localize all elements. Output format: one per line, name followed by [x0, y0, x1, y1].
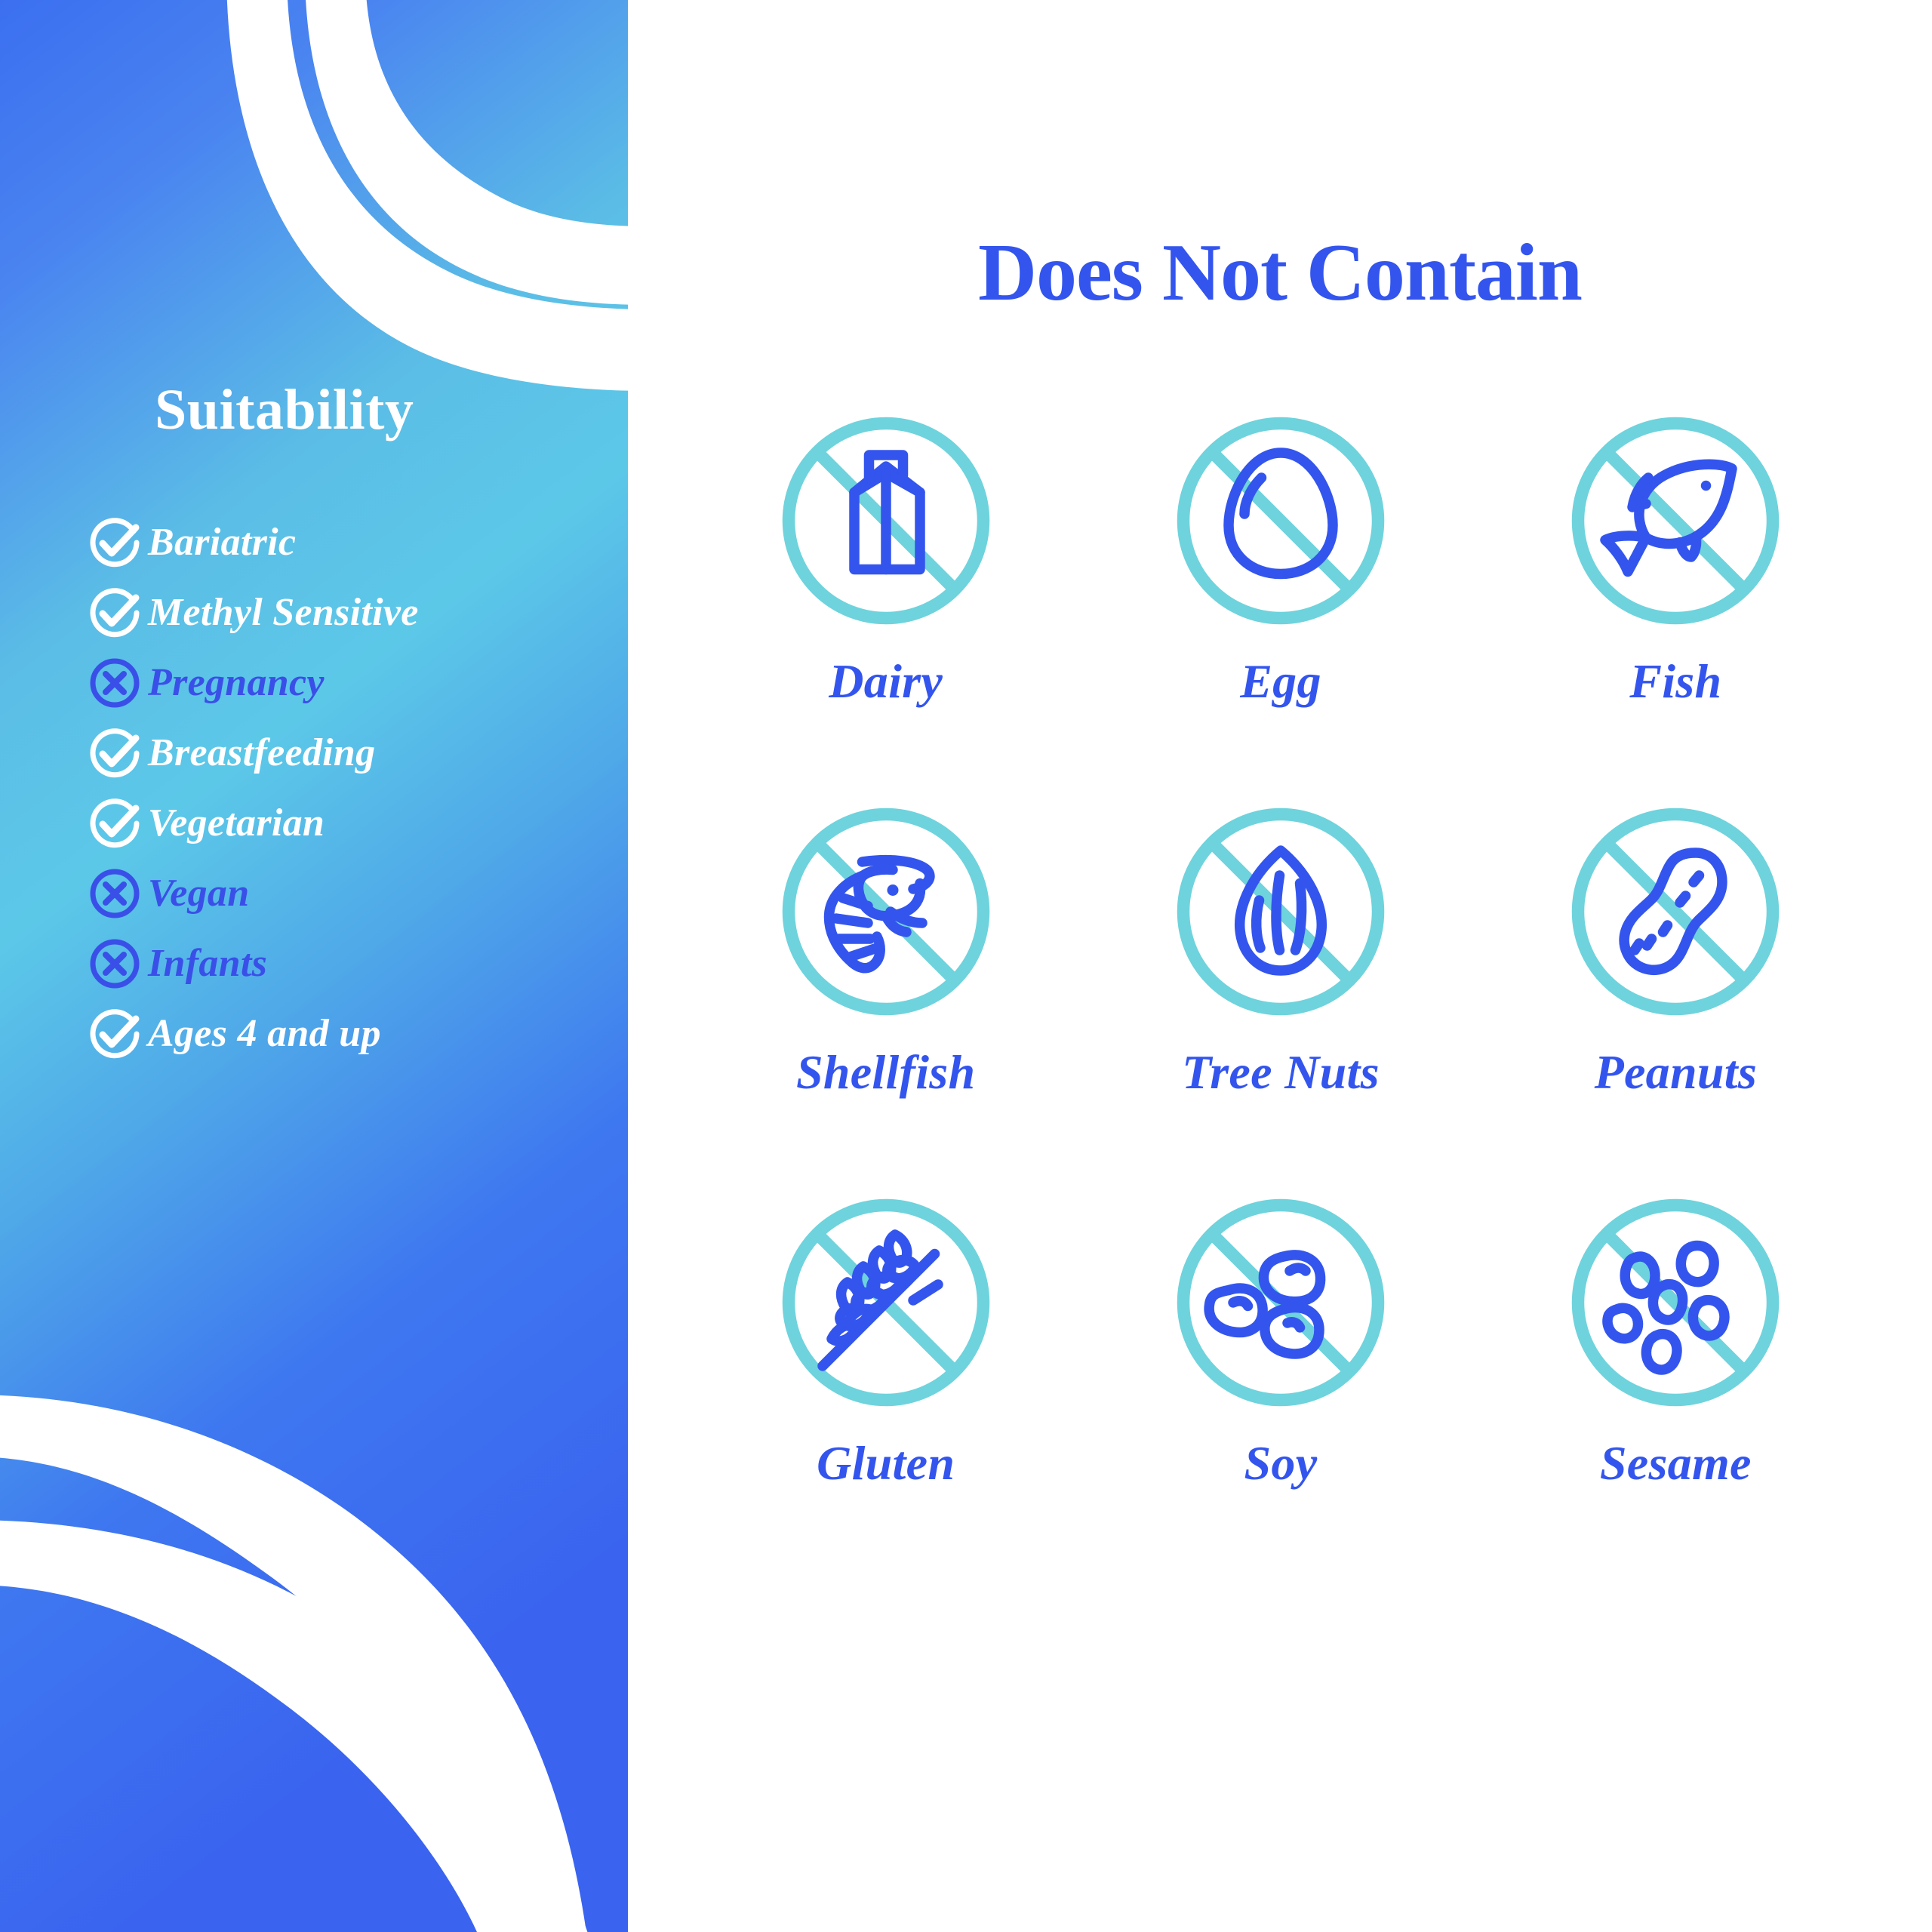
- allergen-label: Tree Nuts: [1182, 1044, 1380, 1100]
- suitability-item-label: Methyl Sensitive: [148, 590, 419, 635]
- allergen-grid: Dairy Egg: [688, 408, 1873, 1491]
- suitability-item-label: Ages 4 and up: [148, 1011, 381, 1056]
- no-shellfish-icon: [773, 798, 999, 1025]
- allergen-label: Dairy: [829, 654, 943, 709]
- allergen-label: Sesame: [1600, 1435, 1752, 1491]
- suitability-item-pregnancy: Pregnancy: [82, 648, 625, 718]
- suitability-item-breastfeeding: Breastfeeding: [82, 718, 625, 788]
- suitability-heading: Suitability: [155, 381, 414, 438]
- suitability-item-label: Breastfeeding: [148, 731, 375, 775]
- suitability-item-vegan: Vegan: [82, 858, 625, 928]
- allergen-cell-peanuts: Peanuts: [1478, 798, 1873, 1100]
- check-circle-icon: [82, 795, 148, 851]
- allergen-label: Shellfish: [796, 1044, 975, 1100]
- page-title: Does Not Contain: [628, 226, 1932, 320]
- suitability-item-label: Bariatric: [148, 520, 296, 565]
- allergen-cell-dairy: Dairy: [688, 408, 1083, 709]
- allergen-label: Fish: [1629, 654, 1721, 709]
- check-circle-icon: [82, 515, 148, 571]
- no-egg-icon: [1168, 408, 1394, 634]
- no-tree-nuts-icon: [1168, 798, 1394, 1025]
- suitability-item-infants: Infants: [82, 928, 625, 998]
- allergen-cell-sesame: Sesame: [1478, 1189, 1873, 1491]
- suitability-section: Suitability Bariatric Methyl Sensitive: [0, 0, 628, 1932]
- no-sesame-icon: [1562, 1189, 1789, 1416]
- suitability-item-label: Vegetarian: [148, 801, 325, 845]
- allergen-cell-gluten: Gluten: [688, 1189, 1083, 1491]
- no-fish-icon: [1562, 408, 1789, 634]
- suitability-item-methyl-sensitive: Methyl Sensitive: [82, 577, 625, 648]
- allergen-label: Egg: [1240, 654, 1321, 709]
- suitability-item-label: Vegan: [148, 871, 249, 915]
- x-circle-icon: [82, 936, 148, 992]
- allergen-cell-tree-nuts: Tree Nuts: [1083, 798, 1478, 1100]
- no-soy-icon: [1168, 1189, 1394, 1416]
- suitability-item-bariatric: Bariatric: [82, 507, 625, 577]
- no-gluten-icon: [773, 1189, 999, 1416]
- suitability-item-ages-4-and-up: Ages 4 and up: [82, 998, 625, 1069]
- no-dairy-icon: [773, 408, 999, 634]
- suitability-item-vegetarian: Vegetarian: [82, 788, 625, 858]
- allergen-cell-fish: Fish: [1478, 408, 1873, 709]
- allergen-cell-egg: Egg: [1083, 408, 1478, 709]
- check-circle-icon: [82, 585, 148, 641]
- check-circle-icon: [82, 725, 148, 781]
- x-circle-icon: [82, 866, 148, 921]
- no-peanuts-icon: [1562, 798, 1789, 1025]
- does-not-contain-section: Does Not Contain Dairy: [628, 0, 1932, 1932]
- suitability-list: Bariatric Methyl Sensitive Pregnancy: [82, 507, 625, 1069]
- suitability-item-label: Pregnancy: [148, 660, 325, 705]
- allergen-cell-soy: Soy: [1083, 1189, 1478, 1491]
- suitability-item-label: Infants: [148, 941, 267, 986]
- check-circle-icon: [82, 1006, 148, 1062]
- x-circle-icon: [82, 655, 148, 711]
- allergen-cell-shellfish: Shellfish: [688, 798, 1083, 1100]
- allergen-label: Soy: [1244, 1435, 1318, 1491]
- allergen-label: Gluten: [817, 1435, 955, 1491]
- allergen-label: Peanuts: [1595, 1044, 1757, 1100]
